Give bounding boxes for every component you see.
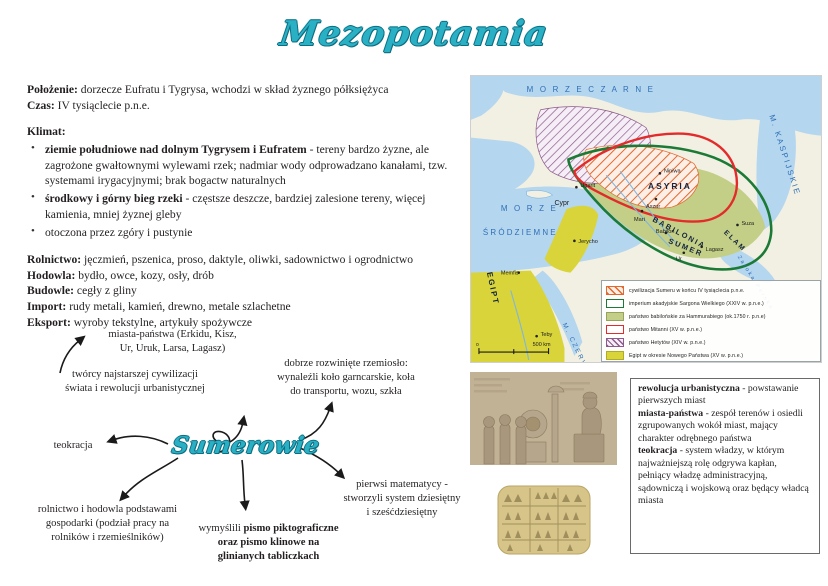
node-line: pierwsi matematycy - bbox=[337, 478, 467, 492]
map-legend: cywilizacja Sumeru w końcu IV tysiącleci… bbox=[601, 280, 821, 362]
node-text-bold: pismo piktograficzne bbox=[243, 523, 338, 534]
klimat-item-bold: środkowy i górny bieg rzeki bbox=[45, 192, 183, 205]
legend-label: państwo babilońskie za Hammurabiego (ok.… bbox=[629, 314, 766, 320]
list-item: środkowy i górny bieg rzeki - częstsze d… bbox=[44, 191, 452, 222]
sea-label-mediterranean-2: ŚRÓDZIEMNE bbox=[483, 228, 558, 237]
artifact-photo-relief bbox=[470, 372, 617, 465]
fact-label: Rolnictwo: bbox=[27, 253, 81, 266]
legend-row: państwo babilońskie za Hammurabiego (ok.… bbox=[606, 310, 816, 323]
fact-hodowla: Hodowla: bydło, owce, kozy, osły, drób bbox=[27, 268, 452, 283]
city-label-lagasz: Lagasz bbox=[706, 247, 724, 253]
list-item: otoczona przez zgóry i pustynie bbox=[44, 225, 452, 240]
city-label-suza: Suza bbox=[741, 221, 755, 227]
clay-tablet-illustration bbox=[492, 480, 596, 560]
mindmap-node-rzemioslo: dobrze rozwinięte rzemiosło: wynaleźli k… bbox=[262, 357, 430, 398]
definition-term: miasta-państwa bbox=[638, 408, 703, 419]
czas-text: IV tysiąclecie p.n.e. bbox=[55, 99, 150, 112]
node-line: do transportu, wozu, szkła bbox=[262, 385, 430, 399]
legend-row: imperium akadyjskie Sargona Wielkiego (X… bbox=[606, 297, 816, 310]
page-title: Mezopotamia bbox=[0, 14, 828, 54]
sea-label-black-sea: M O R Z E C Z A R N E bbox=[527, 85, 655, 94]
legend-row: Egipt w okresie Nowego Państwa (XV w. p.… bbox=[606, 349, 816, 362]
definition-term: rewolucja urbanistyczna bbox=[638, 383, 740, 394]
map-scale-zero: 0 bbox=[476, 342, 479, 348]
mindmap-center-label: Sumerowie bbox=[170, 432, 321, 459]
region-label-asyria: ASYRIA bbox=[648, 181, 692, 191]
legend-label: państwo Mitanni (XV w. p.n.e.) bbox=[629, 327, 702, 333]
notes-page: Mezopotamia Położenie: dorzecze Eufratu … bbox=[0, 0, 828, 586]
city-label-ur: Ur bbox=[676, 257, 682, 263]
legend-label: imperium akadyjskie Sargona Wielkiego (X… bbox=[629, 301, 764, 307]
fact-text: rudy metali, kamień, drewno, metale szla… bbox=[66, 300, 290, 313]
legend-row: państwo Mitanni (XV w. p.n.e.) bbox=[606, 323, 816, 336]
definition-miasta-panstwa: miasta-państwa - zespół terenów i osiedl… bbox=[638, 408, 812, 445]
fact-text: bydło, owce, kozy, osły, drób bbox=[75, 269, 214, 282]
map-scale-label: 500 km bbox=[533, 342, 551, 348]
mindmap-node-tworcy: twórcy najstarszej cywilizacji świata i … bbox=[30, 368, 240, 396]
mindmap-node-miasta-panstwa: miasta-państwa (Erkidu, Kisz, Ur, Uruk, … bbox=[85, 328, 260, 356]
definition-term: teokracja bbox=[638, 445, 677, 456]
legend-swatch-akkad bbox=[606, 299, 624, 308]
legend-swatch-sumer bbox=[606, 286, 624, 295]
node-line: twórcy najstarszej cywilizacji bbox=[30, 368, 240, 382]
polozenie-line: Położenie: dorzecze Eufratu i Tygrysa, w… bbox=[27, 82, 452, 97]
node-line: stworzyli system dziesiętny bbox=[337, 492, 467, 506]
node-line: i sześćdziesiętny bbox=[337, 506, 467, 520]
node-line: Ur, Uruk, Larsa, Lagasz) bbox=[85, 342, 260, 356]
node-line: teokracja bbox=[33, 439, 113, 453]
klimat-list: ziemie południowe nad dolnym Tygrysem i … bbox=[27, 142, 452, 240]
city-label-memfis: Memfis bbox=[501, 271, 519, 277]
klimat-heading: Klimat: bbox=[27, 124, 452, 139]
list-item: ziemie południowe nad dolnym Tygrysem i … bbox=[44, 142, 452, 188]
legend-label: państwo Hetytów (XIV w. p.n.e.) bbox=[629, 340, 706, 346]
city-label-niniwa: Niniwa bbox=[664, 168, 682, 174]
left-text-column: Położenie: dorzecze Eufratu i Tygrysa, w… bbox=[27, 82, 452, 331]
fact-label: Import: bbox=[27, 300, 66, 313]
fact-label: Hodowla: bbox=[27, 269, 75, 282]
city-label-aszur: Aszur bbox=[646, 204, 660, 210]
node-line: miasta-państwa (Erkidu, Kisz, bbox=[85, 328, 260, 342]
city-label-jerycho: Jerycho bbox=[578, 239, 597, 245]
arrow-to-rolnictwo bbox=[124, 458, 178, 496]
node-line: glinianych tabliczkach bbox=[186, 550, 351, 564]
definition-rewolucja: rewolucja urbanistyczna - powstawanie pi… bbox=[638, 383, 812, 408]
node-line: rolnictwo i hodowla podstawami bbox=[20, 503, 195, 517]
legend-label: Egipt w okresie Nowego Państwa (XV w. p.… bbox=[629, 353, 743, 359]
legend-swatch-babylon bbox=[606, 312, 624, 321]
city-label-mari: Mari bbox=[634, 217, 645, 223]
mindmap-node-teokracja: teokracja bbox=[33, 439, 113, 453]
czas-line: Czas: IV tysiąclecie p.n.e. bbox=[27, 98, 452, 113]
definition-teokracja: teokracja - system władzy, w którym najw… bbox=[638, 445, 812, 507]
relief-illustration bbox=[470, 372, 617, 465]
definitions-box: rewolucja urbanistyczna - powstawanie pi… bbox=[630, 378, 820, 554]
sea-label-mediterranean-1: M O R Z E bbox=[501, 204, 558, 213]
arrow-to-pismo bbox=[242, 460, 245, 504]
czas-label: Czas: bbox=[27, 99, 55, 112]
klimat-item-text: otoczona przez zgóry i pustynie bbox=[45, 226, 192, 239]
city-label-teby: Teby bbox=[541, 332, 553, 338]
legend-row: cywilizacja Sumeru w końcu IV tysiącleci… bbox=[606, 284, 816, 297]
polozenie-text: dorzecze Eufratu i Tygrysa, wchodzi w sk… bbox=[78, 83, 389, 96]
mindmap-node-pismo: wymyślili pismo piktograficzne oraz pism… bbox=[186, 522, 351, 563]
artifact-photo-clay-tablet bbox=[492, 480, 596, 560]
node-text-plain: wymyślili bbox=[198, 523, 243, 534]
fact-text: jęczmień, pszenica, proso, daktyle, oliw… bbox=[81, 253, 413, 266]
node-line: świata i rewolucji urbanistycznej bbox=[30, 382, 240, 396]
legend-swatch-egypt bbox=[606, 351, 624, 360]
historical-map: M O R Z E C Z A R N E M. KASPIJSKIE M O … bbox=[470, 75, 822, 363]
node-line: oraz pismo klinowe na bbox=[186, 536, 351, 550]
city-label-ugarit: Ugarit bbox=[580, 183, 595, 189]
klimat-item-bold: ziemie południowe nad dolnym Tygrysem i … bbox=[45, 143, 307, 156]
node-line: rolników i rzemieślników) bbox=[20, 531, 195, 545]
legend-swatch-mitanni bbox=[606, 325, 624, 334]
spacer bbox=[27, 115, 452, 124]
mindmap-node-rolnictwo: rolnictwo i hodowla podstawami gospodark… bbox=[20, 503, 195, 544]
legend-swatch-hittite bbox=[606, 338, 624, 347]
legend-label: cywilizacja Sumeru w końcu IV tysiącleci… bbox=[629, 288, 745, 294]
fact-label: Budowle: bbox=[27, 284, 74, 297]
city-label-cypr: Cypr bbox=[555, 200, 570, 207]
fact-rolnictwo: Rolnictwo: jęczmień, pszenica, proso, da… bbox=[27, 252, 452, 267]
fact-import: Import: rudy metali, kamień, drewno, met… bbox=[27, 299, 452, 314]
fact-budowle: Budowle: cegły z gliny bbox=[27, 283, 452, 298]
legend-row: państwo Hetytów (XIV w. p.n.e.) bbox=[606, 336, 816, 349]
mindmap-node-matematycy: pierwsi matematycy - stworzyli system dz… bbox=[337, 478, 467, 519]
polozenie-label: Położenie: bbox=[27, 83, 78, 96]
arrow-to-teokracja bbox=[113, 436, 168, 444]
node-line: gospodarki (podział pracy na bbox=[20, 517, 195, 531]
fact-text: cegły z gliny bbox=[74, 284, 137, 297]
node-line: dobrze rozwinięte rzemiosło: bbox=[262, 357, 430, 371]
node-line: wymyślili pismo piktograficzne bbox=[186, 522, 351, 536]
node-line: wynaleźli koło garncarskie, koła bbox=[262, 371, 430, 385]
city-label-babilon: Babilon bbox=[656, 229, 675, 235]
